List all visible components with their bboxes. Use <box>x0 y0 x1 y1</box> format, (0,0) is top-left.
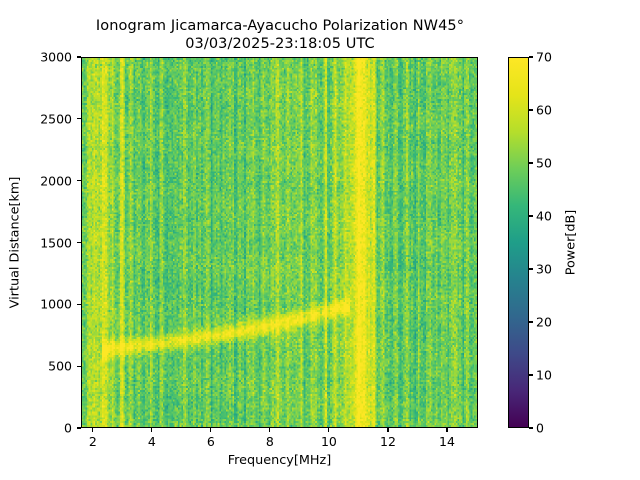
colorbar-tick-label: 40 <box>536 209 552 224</box>
x-tick-label: 14 <box>427 434 467 449</box>
y-axis-label-text: Virtual Distance[km] <box>8 177 23 309</box>
x-tick-mark <box>387 428 388 432</box>
x-tick-mark <box>328 428 329 432</box>
x-tick-mark <box>269 428 270 432</box>
x-tick-label: 8 <box>250 434 290 449</box>
y-tick-label: 2000 <box>34 173 72 188</box>
colorbar-tick-label: 60 <box>536 103 552 118</box>
colorbar-tick-mark <box>529 215 533 216</box>
y-tick-label: 2500 <box>34 111 72 126</box>
x-tick-mark <box>210 428 211 432</box>
colorbar-tick-label: 10 <box>536 368 552 383</box>
y-tick-mark <box>77 56 81 57</box>
x-tick-label: 6 <box>191 434 231 449</box>
colorbar-tick-mark <box>529 56 533 57</box>
x-tick-label: 12 <box>368 434 408 449</box>
colorbar-tick-mark <box>529 268 533 269</box>
colorbar-label-text: Power[dB] <box>564 210 579 276</box>
y-tick-label: 0 <box>34 421 72 436</box>
y-tick-mark <box>77 366 81 367</box>
x-tick-mark <box>151 428 152 432</box>
colorbar-tick-mark <box>529 374 533 375</box>
colorbar-tick-label: 20 <box>536 315 552 330</box>
colorbar-tick-label: 50 <box>536 156 552 171</box>
x-tick-mark <box>446 428 447 432</box>
y-tick-label: 3000 <box>34 50 72 65</box>
y-tick-mark <box>77 242 81 243</box>
ionogram-heatmap <box>82 58 478 428</box>
colorbar-tick-mark <box>529 109 533 110</box>
colorbar-tick-label: 0 <box>536 421 544 436</box>
y-tick-mark <box>77 180 81 181</box>
x-tick-label: 4 <box>132 434 172 449</box>
y-tick-label: 1000 <box>34 297 72 312</box>
colorbar-tick-label: 30 <box>536 262 552 277</box>
x-tick-label: 2 <box>73 434 113 449</box>
colorbar-tick-mark <box>529 321 533 322</box>
y-tick-label: 1500 <box>34 235 72 250</box>
chart-title-line-2: 03/03/2025-23:18:05 UTC <box>0 36 560 54</box>
y-tick-mark <box>77 304 81 305</box>
y-tick-mark <box>77 427 81 428</box>
x-tick-label: 10 <box>309 434 349 449</box>
chart-title-line-1: Ionogram Jicamarca-Ayacucho Polarization… <box>0 18 560 36</box>
x-axis-label: Frequency[MHz] <box>81 453 478 468</box>
y-axis-label: Virtual Distance[km] <box>6 57 24 428</box>
colorbar-tick-mark <box>529 427 533 428</box>
y-tick-label: 500 <box>34 359 72 374</box>
colorbar-tick-mark <box>529 162 533 163</box>
ionogram-plot-area <box>81 57 478 428</box>
chart-title: Ionogram Jicamarca-Ayacucho Polarization… <box>0 18 560 53</box>
x-tick-mark <box>92 428 93 432</box>
y-tick-mark <box>77 118 81 119</box>
colorbar-label: Power[dB] <box>562 57 580 428</box>
colorbar-gradient <box>509 58 528 427</box>
colorbar-tick-label: 70 <box>536 50 552 65</box>
ionogram-figure: Ionogram Jicamarca-Ayacucho Polarization… <box>0 0 640 480</box>
colorbar <box>508 57 529 428</box>
